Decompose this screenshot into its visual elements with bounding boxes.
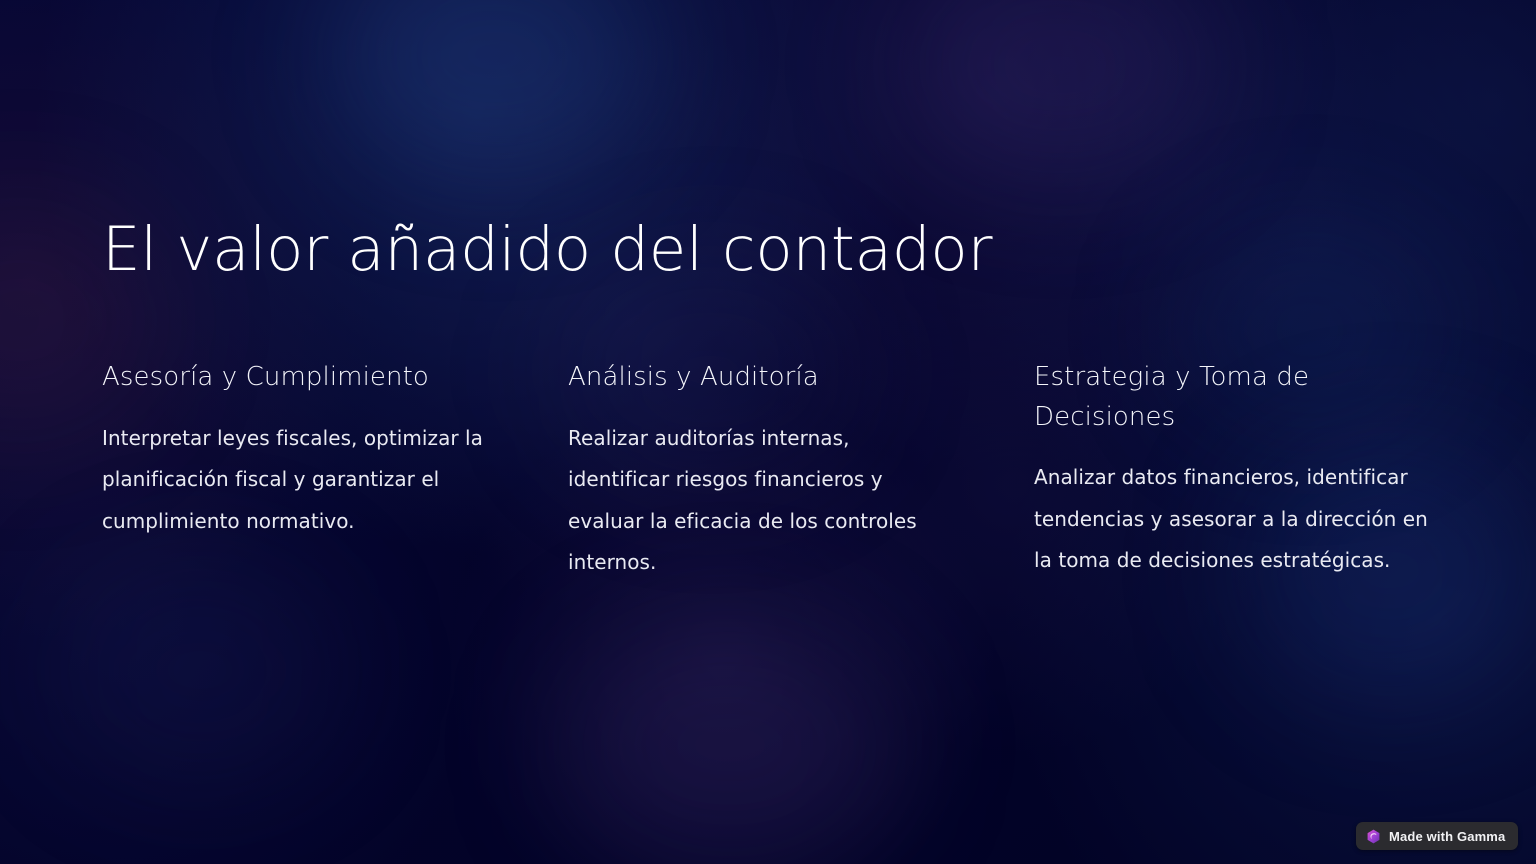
gamma-logo-icon bbox=[1366, 829, 1381, 844]
feature-columns: Asesoría y Cumplimiento Interpretar leye… bbox=[102, 358, 1450, 584]
column-heading: Análisis y Auditoría bbox=[568, 358, 988, 398]
column-body-text: Analizar datos financieros, identificar … bbox=[1034, 457, 1438, 582]
page-title: El valor añadido del contador bbox=[102, 215, 992, 285]
column-body-text: Realizar auditorías internas, identifica… bbox=[568, 418, 946, 584]
presentation-slide: El valor añadido del contador Asesoría y… bbox=[0, 0, 1536, 864]
column-heading: Asesoría y Cumplimiento bbox=[102, 358, 522, 398]
feature-column-estrategia-y-toma-de-decisiones: Estrategia y Toma de Decisiones Analizar… bbox=[1034, 358, 1500, 584]
made-with-gamma-badge[interactable]: Made with Gamma bbox=[1356, 822, 1518, 850]
badge-label: Made with Gamma bbox=[1389, 829, 1505, 844]
slide-content: El valor añadido del contador Asesoría y… bbox=[0, 0, 1536, 864]
feature-column-analisis-y-auditoria: Análisis y Auditoría Realizar auditorías… bbox=[568, 358, 1034, 584]
feature-column-asesoria-y-cumplimiento: Asesoría y Cumplimiento Interpretar leye… bbox=[102, 358, 568, 584]
column-body-text: Interpretar leyes fiscales, optimizar la… bbox=[102, 418, 494, 543]
column-heading: Estrategia y Toma de Decisiones bbox=[1034, 358, 1334, 437]
